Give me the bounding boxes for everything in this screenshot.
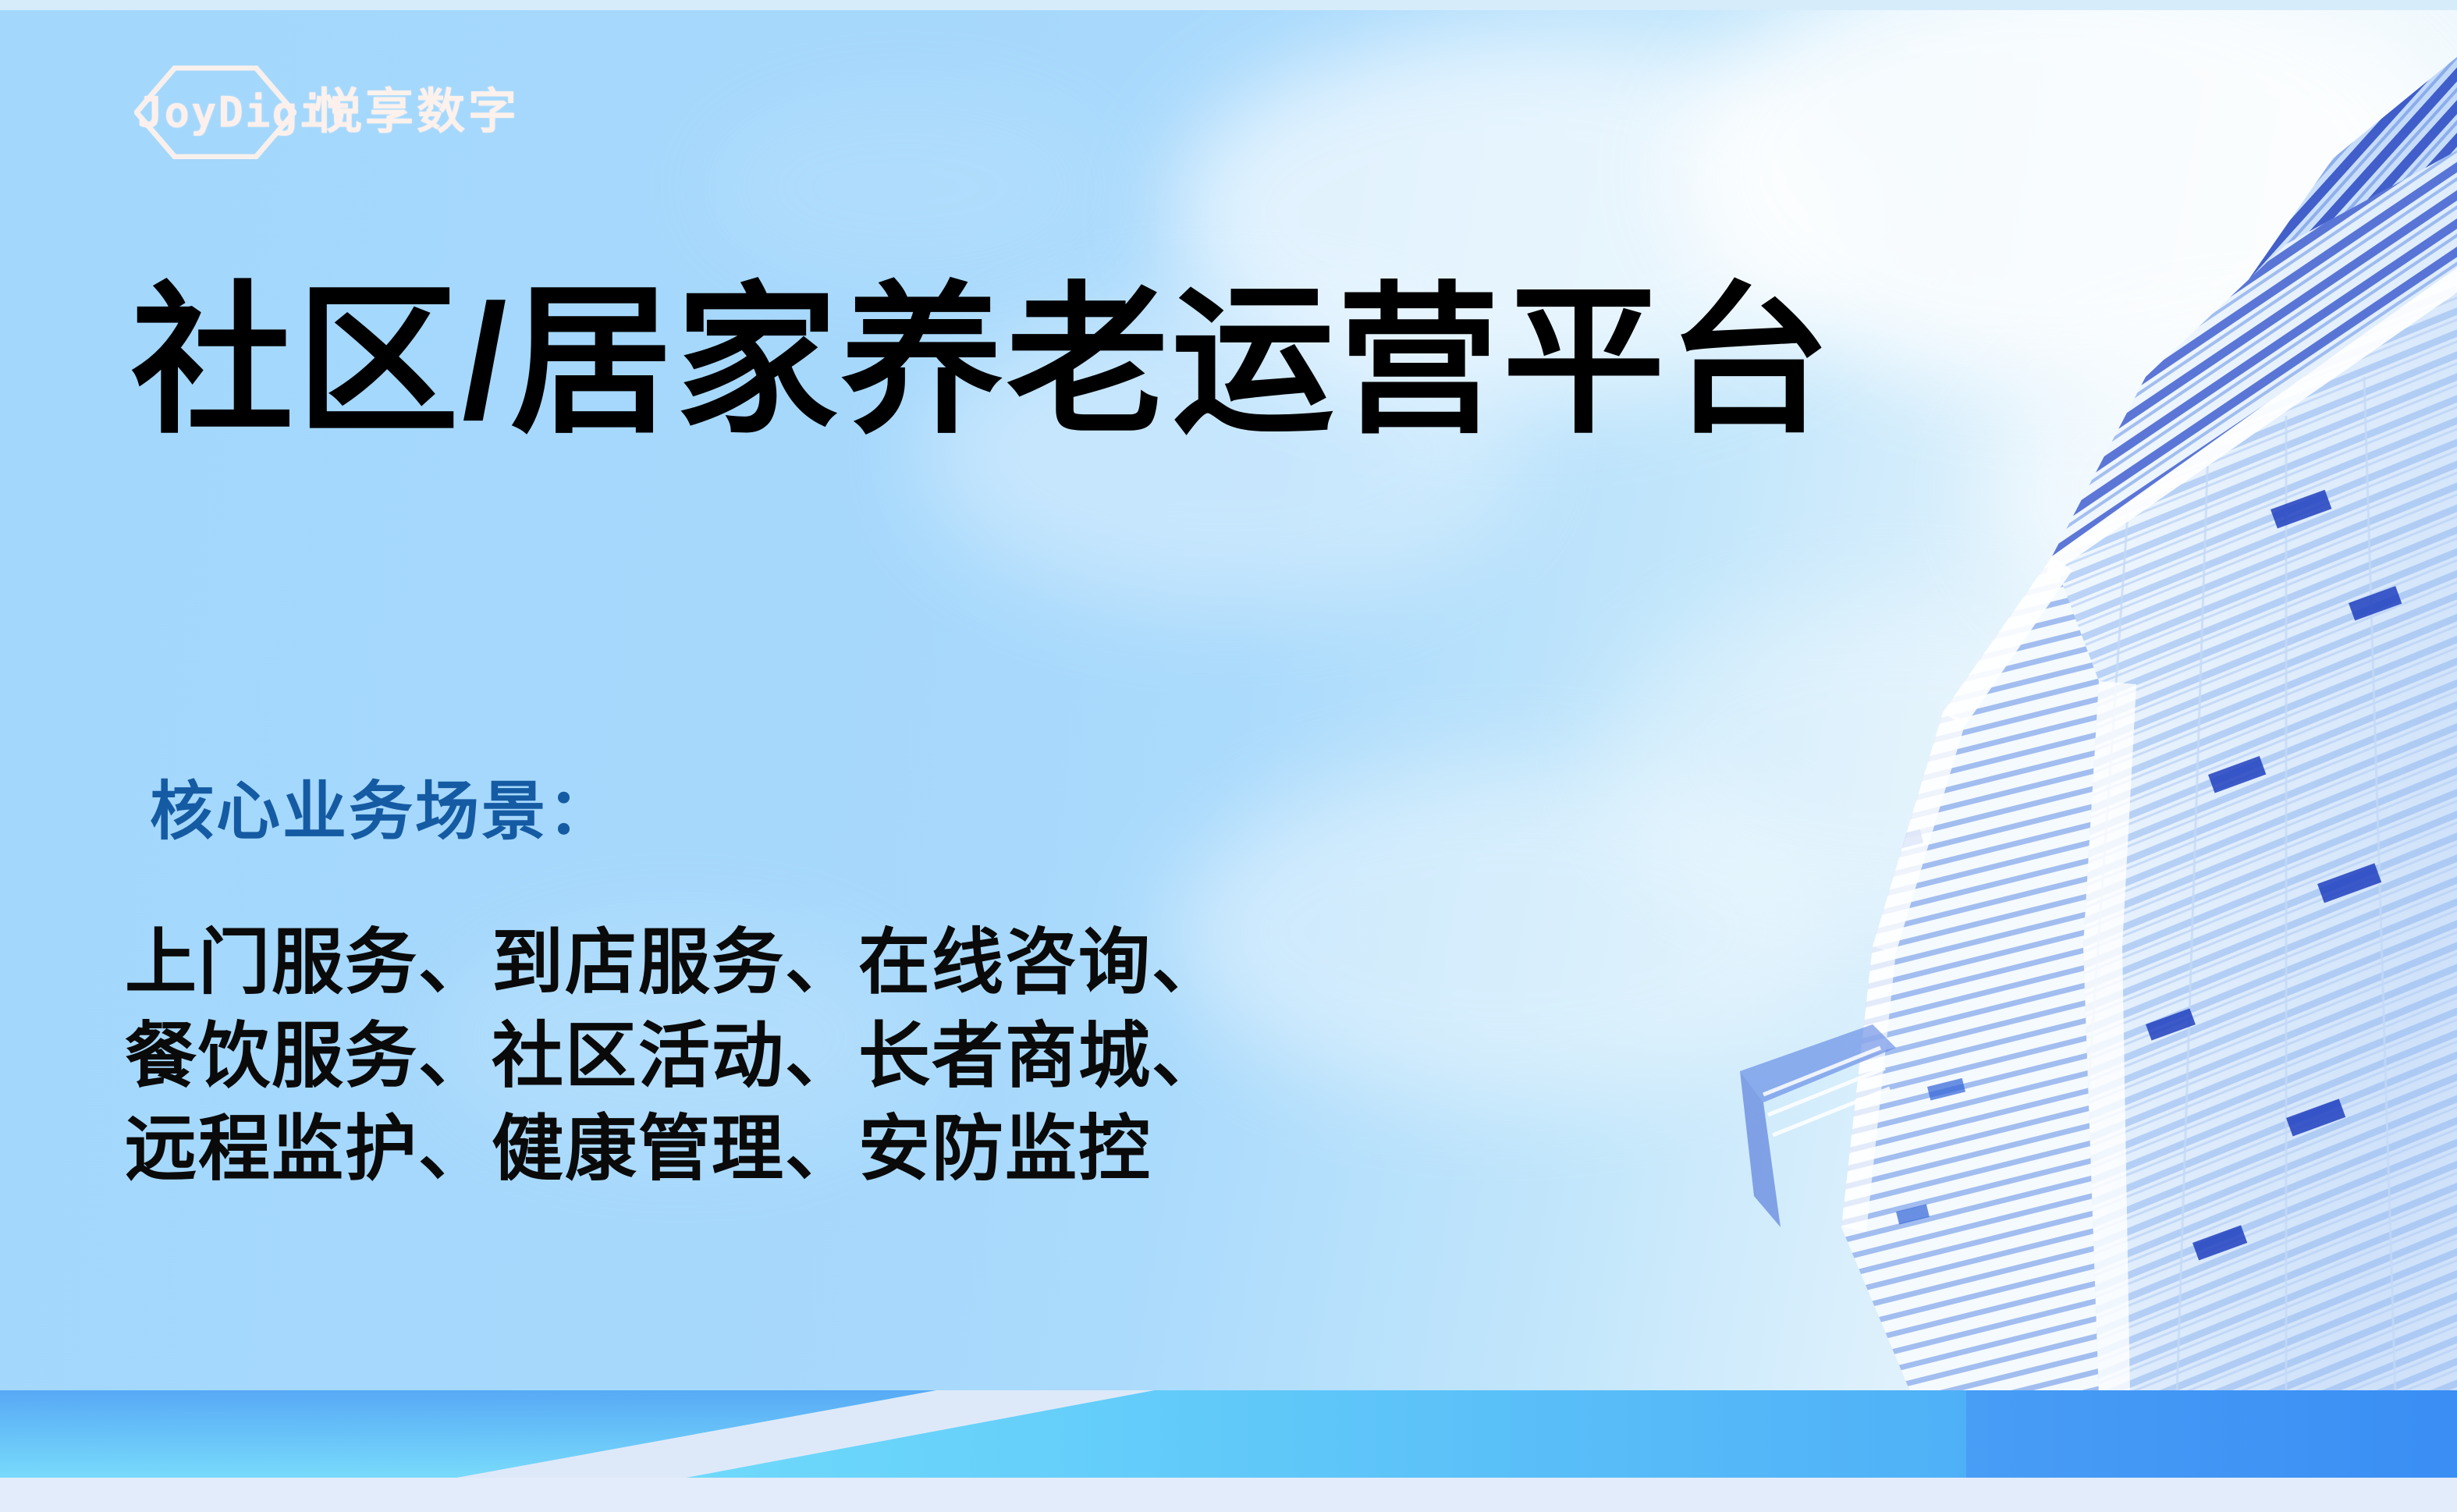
scenario-line: 远程监护、健康管理、安防监控 — [125, 1103, 1225, 1197]
section-heading: 核心业务场景： — [150, 780, 614, 844]
logo-wordmark: JoyDigit — [137, 88, 353, 137]
scenario-list: 上门服务、到店服务、在线咨询、 餐饮服务、社区活动、长者商城、 远程监护、健康管… — [125, 917, 1225, 1197]
bottom-decorative-band — [0, 1373, 2457, 1512]
brand-logo[interactable]: JoyDigit 悦享数字 — [134, 66, 520, 159]
page-title: 社区/居家养老运营平台 — [131, 275, 1834, 450]
hexagon-outline-icon: JoyDigit — [134, 66, 296, 159]
skyscraper-photo — [1506, 10, 2457, 1395]
scenario-line: 上门服务、到店服务、在线咨询、 — [125, 917, 1225, 1010]
skyscraper-illustration — [1506, 10, 2457, 1395]
cloud-shape — [702, 94, 1108, 281]
top-edge-strip — [0, 0, 2457, 10]
scenario-line: 餐饮服务、社区活动、长者商城、 — [125, 1010, 1225, 1104]
slide-canvas: JoyDigit 悦享数字 社区/居家养老运营平台 核心业务场景： 上门服务、到… — [0, 0, 2457, 1512]
